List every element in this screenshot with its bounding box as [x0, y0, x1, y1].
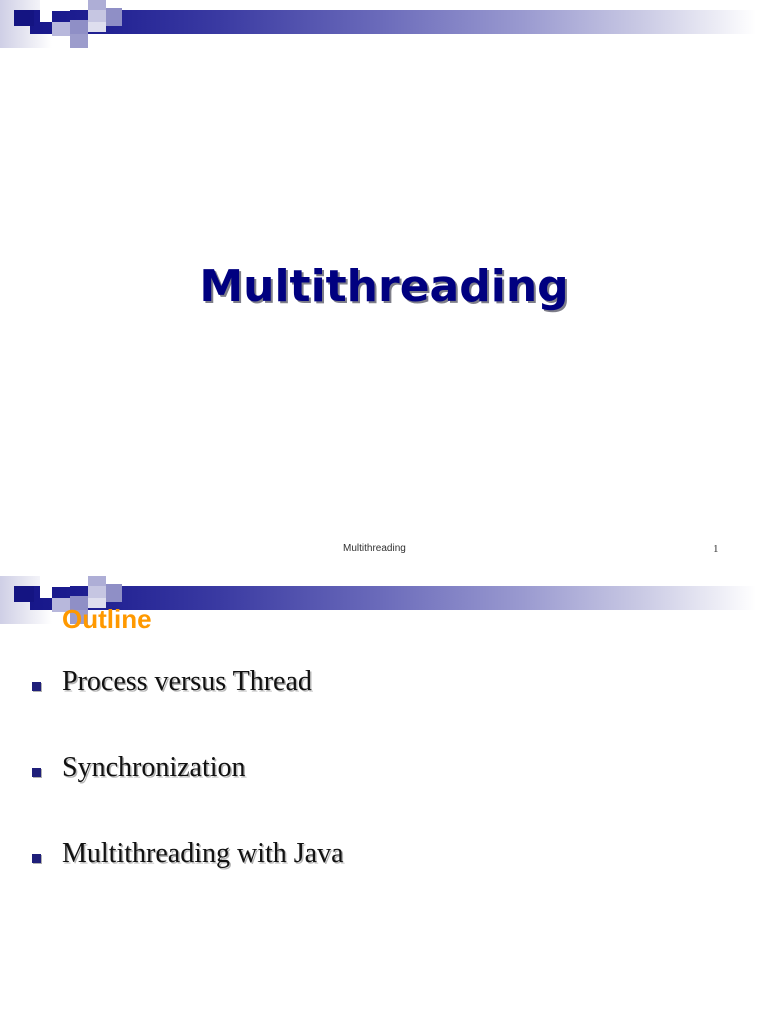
list-item: Multithreading with Java [0, 844, 768, 930]
banner-square-dark-2 [14, 586, 34, 602]
slide-title: Multithreading Multithreading 1 [0, 0, 768, 576]
banner-square-white-a-2 [40, 576, 52, 598]
banner-square-light-c-2 [88, 586, 106, 598]
slide-banner-decoration [0, 0, 768, 48]
list-item: Process versus Thread [0, 672, 768, 758]
banner-square-white-a [40, 0, 52, 22]
slide-heading-outline: Outline [62, 606, 152, 632]
banner-square-mid-near [106, 8, 122, 26]
banner-square-white-mid-2 [52, 576, 70, 587]
slide-footer: Multithreading 1 [0, 543, 768, 561]
bullet-square-icon [32, 854, 41, 863]
bullet-square-icon [32, 682, 41, 691]
banner-square-mid-near-2 [106, 584, 122, 602]
list-item: Synchronization [0, 758, 768, 844]
outline-bullet-list: Process versus Thread Synchronization Mu… [0, 672, 768, 930]
banner-square-light-b-2 [88, 576, 106, 586]
banner-square-light-b [88, 0, 106, 10]
banner-square-light-c [88, 10, 106, 22]
slide-outline: Process versus Thread Synchronization Mu… [0, 576, 768, 1024]
banner-square-mid-b [52, 22, 70, 36]
banner-square-pale-near [88, 22, 106, 32]
list-item-label: Synchronization [62, 752, 246, 784]
bullet-square-icon [32, 768, 41, 777]
footer-page-number: 1 [713, 543, 719, 555]
presentation-title: Multithreading [0, 261, 768, 312]
list-item-label: Multithreading with Java [62, 838, 344, 870]
banner-square-mid-c [70, 34, 88, 48]
banner-square-dark [14, 10, 34, 26]
banner-square-white-mid [52, 0, 70, 11]
footer-title-text: Multithreading [343, 543, 406, 554]
banner-gradient-bar [30, 10, 756, 34]
list-item-label: Process versus Thread [62, 666, 312, 698]
banner-square-mid-d [70, 20, 88, 34]
